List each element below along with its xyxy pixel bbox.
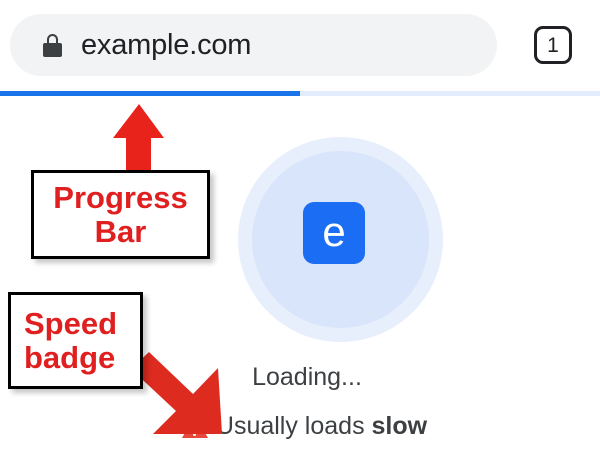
warning-triangle-icon bbox=[182, 415, 208, 438]
annotation-progress-bar: Progress Bar bbox=[31, 170, 210, 259]
tab-counter-button[interactable]: 1 bbox=[534, 26, 572, 64]
speed-badge: Usually loads slow bbox=[0, 414, 600, 439]
annotation-speed-badge: Speed badge bbox=[8, 292, 143, 389]
annotation-speed-line1: Speed bbox=[24, 307, 117, 340]
progress-bar-fill bbox=[0, 91, 300, 96]
speed-badge-word: slow bbox=[372, 412, 428, 440]
annotation-progress-line1: Progress bbox=[53, 181, 187, 214]
speed-badge-prefix: Usually loads bbox=[216, 412, 372, 440]
site-favicon-letter: e bbox=[322, 211, 345, 253]
annotation-progress-line2: Bar bbox=[95, 215, 147, 248]
site-favicon-tile: e bbox=[303, 202, 365, 264]
progress-bar-track bbox=[0, 91, 600, 96]
url-text[interactable]: example.com bbox=[81, 31, 251, 60]
annotation-speed-line2: badge bbox=[24, 341, 115, 374]
speed-badge-text: Usually loads slow bbox=[216, 414, 427, 439]
tab-count-label: 1 bbox=[547, 35, 559, 56]
address-bar[interactable]: example.com bbox=[10, 14, 497, 76]
lock-icon bbox=[43, 34, 62, 57]
browser-screenshot: example.com 1 e Loading... Usually loads… bbox=[0, 0, 600, 462]
